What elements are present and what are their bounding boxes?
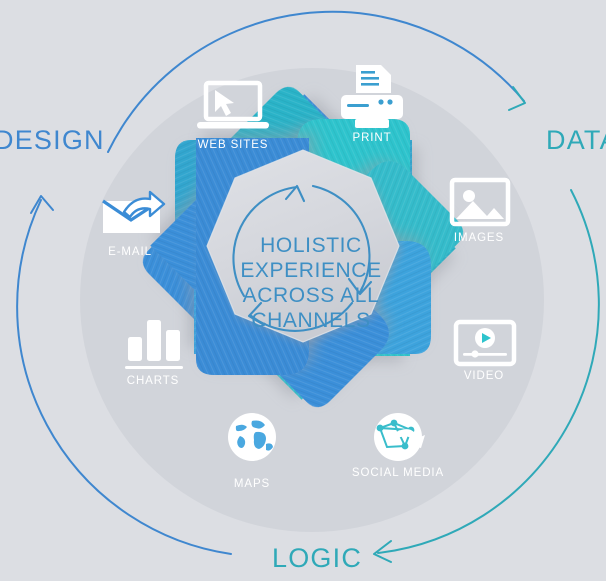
outer-label-design: DESIGN bbox=[0, 125, 105, 156]
center-line-2: EXPERIENCE bbox=[240, 259, 381, 282]
center-line-4: CHANNELS bbox=[251, 309, 370, 332]
blade-label-social-media: SOCIAL MEDIA bbox=[352, 467, 444, 479]
blade-label-e-mail: E-MAIL bbox=[108, 246, 152, 258]
blade-label-maps: MAPS bbox=[234, 478, 270, 490]
globe-icon bbox=[228, 413, 276, 461]
infographic-canvas: WEB SITES PRINT IMAG bbox=[0, 0, 606, 581]
blade-label-web-sites: WEB SITES bbox=[198, 139, 269, 151]
center-line-3: ACROSS ALL bbox=[243, 284, 380, 307]
blade-label-print: PRINT bbox=[353, 132, 392, 144]
blade-content-maps[interactable]: MAPS bbox=[228, 413, 276, 490]
blade-label-images: IMAGES bbox=[454, 232, 504, 244]
outer-label-logic: LOGIC bbox=[272, 543, 362, 574]
shutter-diagram: WEB SITES PRINT IMAG bbox=[0, 0, 606, 581]
blade-label-charts: CHARTS bbox=[127, 375, 179, 387]
outer-label-data: DATA bbox=[546, 125, 606, 156]
center-line-1: HOLISTIC bbox=[260, 234, 362, 257]
blade-label-video: VIDEO bbox=[464, 370, 504, 382]
